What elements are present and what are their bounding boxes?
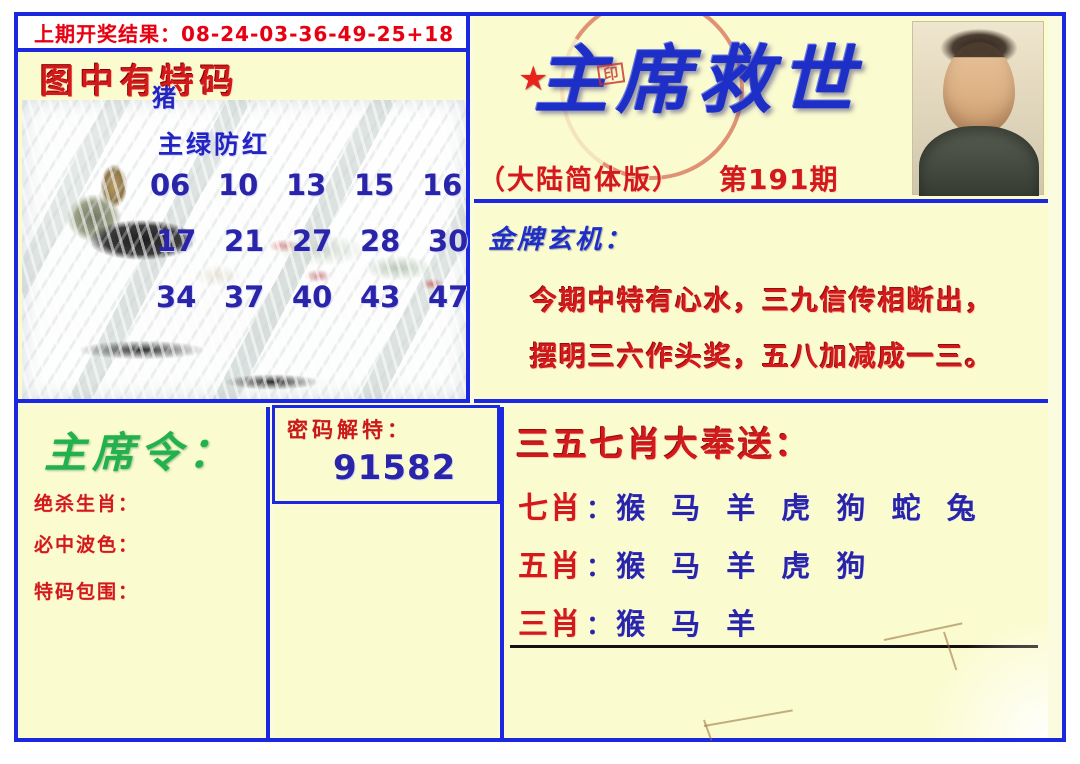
zodiac-gift-title: 三五七肖大奉送： [516,417,812,466]
kill-zodiac-label: 绝杀生肖： [34,489,139,516]
last-draw-result-text: 上期开奖结果：08-24-03-36-49-25+18 [18,18,454,47]
zodiac-row-separator: ： [582,547,616,584]
lottery-poster: 上期开奖结果：08-24-03-36-49-25+18 图中有特码 ★ 主席救世… [0,0,1080,764]
number-cell: 16 [422,168,462,202]
zodiac-gift-panel: 三五七肖大奉送： 七肖 ： 猴 马 羊 虎 狗 蛇 兔 五肖 ： 猴 马 羊 虎… [504,407,1048,738]
zodiac-row-key: 五肖 [518,541,582,585]
watermark-stroke [704,709,793,727]
issue-number: 第191期 [719,158,838,198]
number-cell: 10 [218,168,258,202]
zodiac-row-seven: 七肖 ： 猴 马 羊 虎 狗 蛇 兔 [518,483,984,527]
special-code-range-label: 特码包围： [34,577,139,604]
special-code-number-grid: 06 10 13 15 16 17 21 27 28 30 34 37 40 4… [150,168,450,336]
poster-header: ★ 主席救世 印 印 （大陆简体版） 第191期 [474,16,1048,203]
paper-highlight [928,618,1048,738]
number-cell: 37 [224,280,264,314]
zodiac-row-separator: ： [582,605,616,642]
kill-zodiac-value: 猪 [152,78,176,113]
code-decode-label: 密码解特： [287,414,412,444]
number-cell: 34 [156,280,196,314]
zodiac-row-value: 猴 马 羊 [616,601,763,643]
chairman-order-panel: 主席令： 绝杀生肖： 必中波色： 特码包围： [18,407,270,738]
edition-label: （大陆简体版） [478,158,681,197]
picture-panel-title: 图中有特码 [40,54,240,103]
oracle-line-1: 今期中特有心水，三九信传相断出， [530,279,994,318]
number-cell: 21 [224,224,264,258]
oracle-line-2: 摆明三六作头奖，五八加减成一三。 [530,335,994,374]
number-cell: 15 [354,168,394,202]
number-row: 06 10 13 15 16 [150,168,450,202]
chairman-portrait [912,21,1044,195]
number-cell: 40 [292,280,332,314]
seal-stamp-icon-left: 印 [597,62,626,85]
code-decode-box: 密码解特： 91582 [272,405,500,504]
zodiac-row-separator: ： [582,489,616,526]
number-row: 34 37 40 43 47 [150,280,450,314]
oracle-label: 金牌玄机： [488,219,633,256]
number-cell: 13 [286,168,326,202]
zodiac-row-value: 猴 马 羊 虎 狗 蛇 兔 [616,485,984,527]
number-cell: 30 [428,224,468,258]
order-panel-spill-area [274,506,498,738]
number-cell: 43 [360,280,400,314]
zodiac-row-value: 猴 马 羊 虎 狗 [616,543,873,585]
number-cell: 47 [428,280,468,314]
last-draw-result-bar: 上期开奖结果：08-24-03-36-49-25+18 [18,16,470,52]
code-decode-value: 91582 [333,448,456,488]
number-cell: 17 [156,224,196,258]
wave-color-value: 主绿防红 [158,125,270,161]
zodiac-row-key: 七肖 [518,483,582,527]
zodiac-row-three: 三肖 ： 猴 马 羊 [518,599,763,643]
oracle-panel: 金牌玄机： 今期中特有心水，三九信传相断出， 摆明三六作头奖，五八加减成一三。 [474,207,1048,403]
number-cell: 27 [292,224,332,258]
zodiac-row-key: 三肖 [518,599,582,643]
chairman-order-title: 主席令： [44,419,236,480]
wave-color-label: 必中波色： [34,530,139,557]
number-cell: 28 [360,224,400,258]
zodiac-row-five: 五肖 ： 猴 马 羊 虎 狗 [518,541,873,585]
number-cell: 06 [150,168,190,202]
number-row: 17 21 27 28 30 [150,224,450,258]
poster-main-title: 主席救世 [534,38,862,124]
